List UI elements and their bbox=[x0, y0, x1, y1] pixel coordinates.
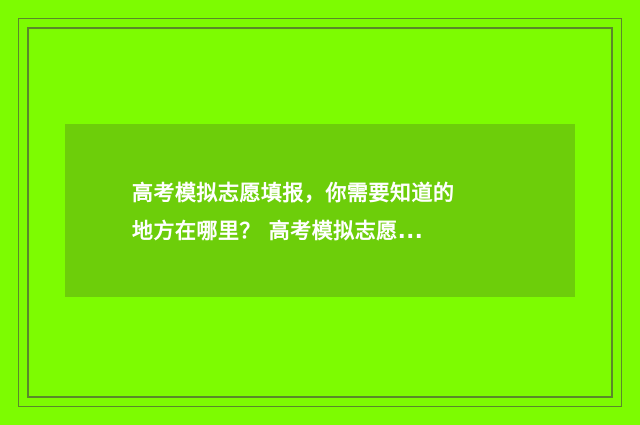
article-card-canvas: 高考模拟志愿填报，你需要知道的 地方在哪里？ 高考模拟志愿... bbox=[0, 0, 640, 425]
headline-text: 高考模拟志愿填报，你需要知道的 地方在哪里？ 高考模拟志愿... bbox=[132, 174, 552, 250]
headline-card[interactable]: 高考模拟志愿填报，你需要知道的 地方在哪里？ 高考模拟志愿... bbox=[65, 124, 575, 297]
